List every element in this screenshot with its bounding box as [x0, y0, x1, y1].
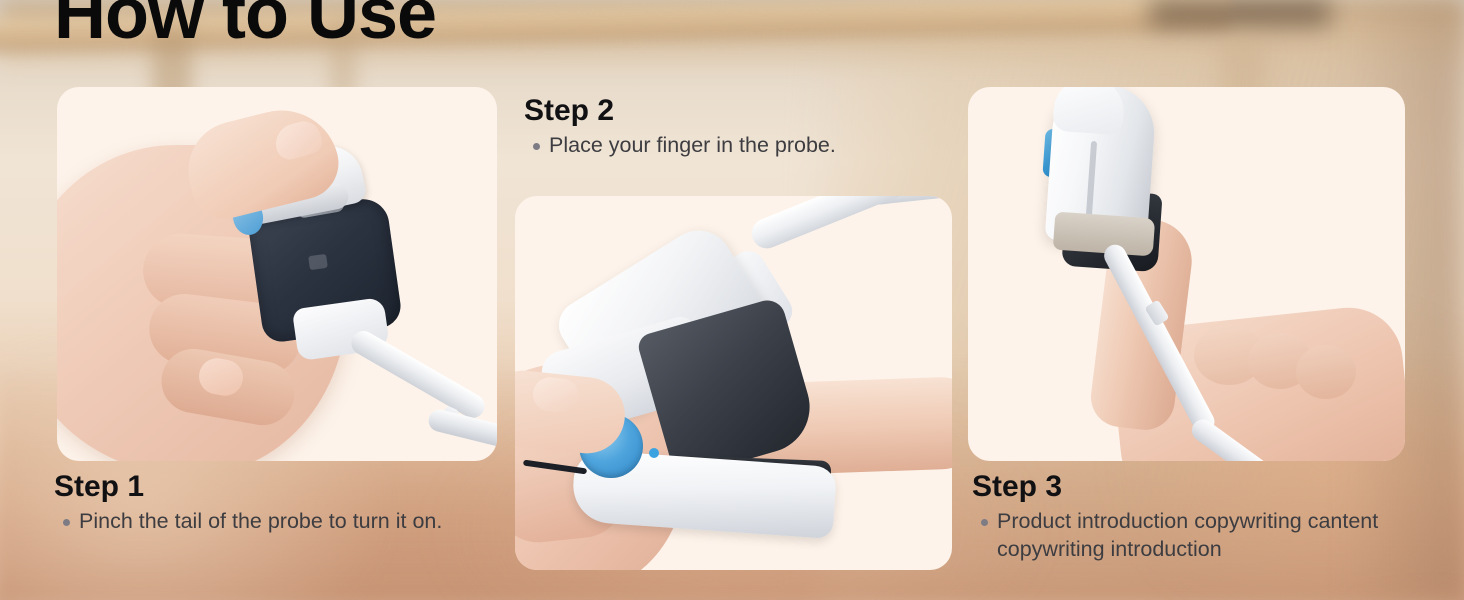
step-2-text-block: Step 2 Place your finger in the probe. [524, 94, 954, 160]
background-dark-strip [1150, 0, 1330, 26]
step-1-bullet-text: Pinch the tail of the probe to turn it o… [79, 508, 442, 536]
step-3-bullet-row: Product introduction copywriting cantent… [972, 508, 1402, 564]
step-3-image-card [968, 87, 1405, 461]
step-2-bullet-row: Place your finger in the probe. [524, 132, 954, 160]
probe-logo-mark [308, 254, 328, 270]
probe-rounded-cap [1052, 87, 1126, 135]
step-1-photo [57, 87, 497, 461]
step-3-heading: Step 3 [972, 470, 1402, 504]
probe-blue-indicator [649, 448, 659, 458]
step-1-image-card [57, 87, 497, 461]
step-1-bullet-row: Pinch the tail of the probe to turn it o… [54, 508, 524, 536]
probe-cable-near [747, 196, 916, 253]
step-2-bullet-text: Place your finger in the probe. [549, 132, 836, 160]
knuckle-three [1296, 345, 1356, 399]
step-3-bullet-text: Product introduction copywriting cantent… [997, 508, 1402, 564]
probe-grey-collar [1053, 212, 1155, 257]
bullet-dot-icon [981, 519, 988, 526]
how-to-use-infographic: How to Use [0, 0, 1464, 600]
probe-cable-lower [426, 407, 497, 453]
step-2-image-card [515, 196, 952, 570]
probe-cable-upper [347, 327, 489, 423]
step-3-text-block: Step 3 Product introduction copywriting … [972, 470, 1402, 563]
step-2-photo [515, 196, 952, 570]
page-title: How to Use [54, 0, 436, 50]
bullet-dot-icon [63, 519, 70, 526]
step-3-photo [968, 87, 1405, 461]
step-2-heading: Step 2 [524, 94, 954, 128]
step-1-text-block: Step 1 Pinch the tail of the probe to tu… [54, 470, 524, 536]
bullet-dot-icon [533, 143, 540, 150]
step-1-heading: Step 1 [54, 470, 524, 504]
